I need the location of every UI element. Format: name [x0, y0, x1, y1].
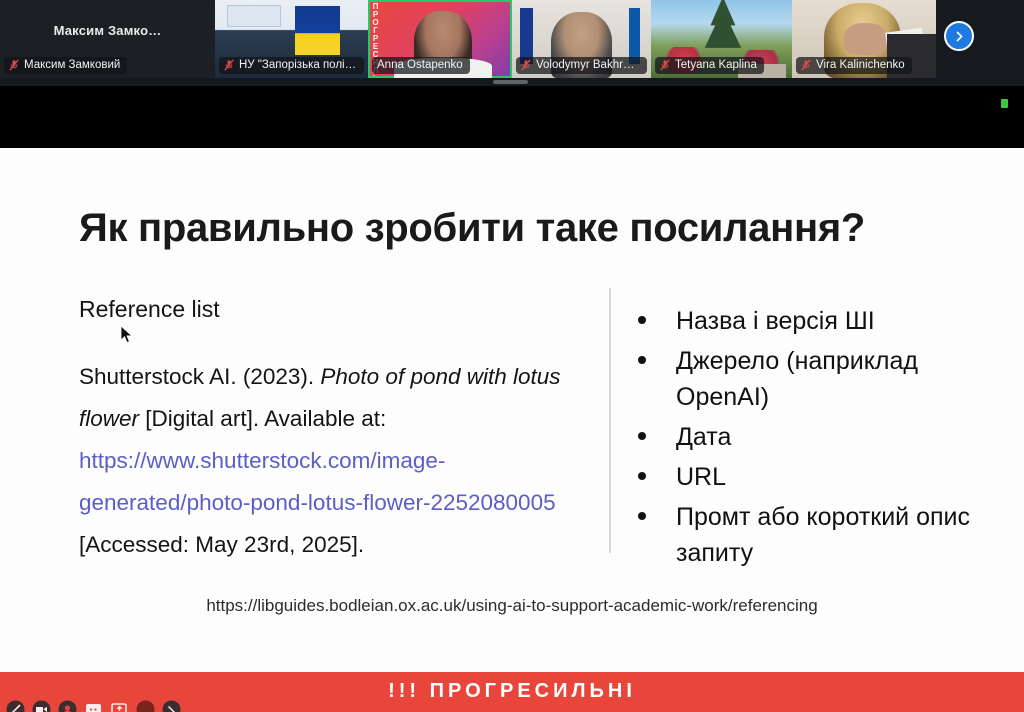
slide-source-url: https://libguides.bodleian.ox.ac.uk/usin… [0, 596, 1024, 616]
reactions-icon[interactable] [136, 700, 155, 712]
citation-medium: [Digital art]. Available at: [139, 406, 386, 431]
participant-name-badge: Volodymyr Bakhrushyn [516, 57, 647, 74]
reference-column: Reference list Shutterstock AI. (2023). … [79, 296, 591, 566]
participant-tile[interactable]: НУ "Запорізька політех… [215, 0, 368, 78]
microphone-icon[interactable] [6, 700, 25, 712]
reference-list-heading: Reference list [79, 296, 591, 323]
bullet-label: URL [676, 459, 726, 495]
column-divider [609, 288, 611, 553]
bullet-point-icon [638, 512, 646, 520]
bullet-point-icon [638, 356, 646, 364]
chevron-right-icon [953, 30, 966, 43]
shared-slide: Як правильно зробити таке посилання? Ref… [0, 148, 1024, 672]
citation-accessed-date: [Accessed: May 23rd, 2025]. [79, 532, 364, 557]
participant-filmstrip[interactable]: Максим Замко… Максим Замковий НУ "Запорі… [0, 0, 1024, 86]
bullet-point-icon [638, 432, 646, 440]
video-flag [520, 8, 533, 64]
participant-avatar-text: Максим Замко… [54, 23, 162, 38]
mic-muted-icon [9, 59, 19, 71]
mouse-cursor-icon [120, 325, 134, 345]
bullet-list: Назва і версія ШІ Джерело (наприклад Ope… [638, 303, 990, 575]
scrollbar-thumb[interactable] [493, 80, 528, 84]
video-flag [629, 8, 640, 64]
video-person-hand [844, 23, 887, 54]
mic-muted-icon [660, 59, 670, 71]
mic-muted-icon [224, 59, 234, 71]
list-item: Назва і версія ШІ [638, 303, 990, 339]
participant-tile[interactable]: Volodymyr Bakhrushyn [512, 0, 651, 78]
participant-name-badge: Anna Ostapenko [372, 57, 470, 74]
participant-name: Максим Замковий [24, 59, 120, 71]
bullet-label: Джерело (наприклад OpenAI) [676, 343, 990, 415]
filmstrip-scrollbar[interactable] [0, 78, 1024, 86]
list-item: URL [638, 459, 990, 495]
next-page-button[interactable] [944, 21, 974, 51]
more-icon[interactable] [162, 700, 181, 712]
slide-title: Як правильно зробити таке посилання? [79, 206, 865, 251]
participant-tile[interactable]: Максим Замко… Максим Замковий [0, 0, 215, 78]
participant-name: Volodymyr Bakhrushyn [536, 59, 640, 71]
participant-name-badge: Vira Kalinichenko [796, 57, 912, 74]
bullet-label: Назва і версія ШІ [676, 303, 875, 339]
list-item: Джерело (наприклад OpenAI) [638, 343, 990, 415]
share-screen-icon[interactable] [110, 700, 129, 712]
zoom-controls-toolbar[interactable] [0, 700, 240, 712]
mic-muted-icon [801, 59, 811, 71]
participant-name: Anna Ostapenko [377, 59, 463, 71]
participant-tile-active-speaker[interactable]: ПРОГРЕСИЛЬНІ Anna Ostapenko [368, 0, 512, 78]
bullet-label: Дата [676, 419, 731, 455]
list-item: Промт або короткий опис запиту [638, 499, 990, 571]
bullet-label: Промт або короткий опис запиту [676, 499, 990, 571]
list-item: Дата [638, 419, 990, 455]
participant-name: Vira Kalinichenko [816, 59, 905, 71]
mic-muted-icon [521, 59, 531, 71]
reference-citation: Shutterstock AI. (2023). Photo of pond w… [79, 356, 591, 566]
participant-name-badge: Максим Замковий [4, 57, 127, 74]
participants-icon[interactable] [58, 700, 77, 712]
citation-url-link[interactable]: https://www.shutterstock.com/image-gener… [79, 448, 556, 515]
chat-icon[interactable] [84, 700, 103, 712]
recording-indicator-icon [1001, 99, 1008, 108]
participant-tile[interactable]: Tetyana Kaplina [651, 0, 792, 78]
brand-banner-text: !!! ПРОГРЕСИЛЬНІ [388, 680, 636, 703]
video-camera-icon[interactable] [32, 700, 51, 712]
participant-name-badge: НУ "Запорізька політех… [219, 57, 364, 74]
letterbox-band [0, 86, 1024, 148]
participant-name: НУ "Запорізька політех… [239, 59, 357, 71]
bullet-point-icon [638, 316, 646, 324]
participant-name-badge: Tetyana Kaplina [655, 57, 764, 74]
bullet-point-icon [638, 472, 646, 480]
participant-name: Tetyana Kaplina [675, 59, 757, 71]
video-scenery [699, 0, 747, 56]
participant-tile[interactable]: Vira Kalinichenko [792, 0, 936, 78]
citation-author-year: Shutterstock AI. (2023). [79, 364, 320, 389]
